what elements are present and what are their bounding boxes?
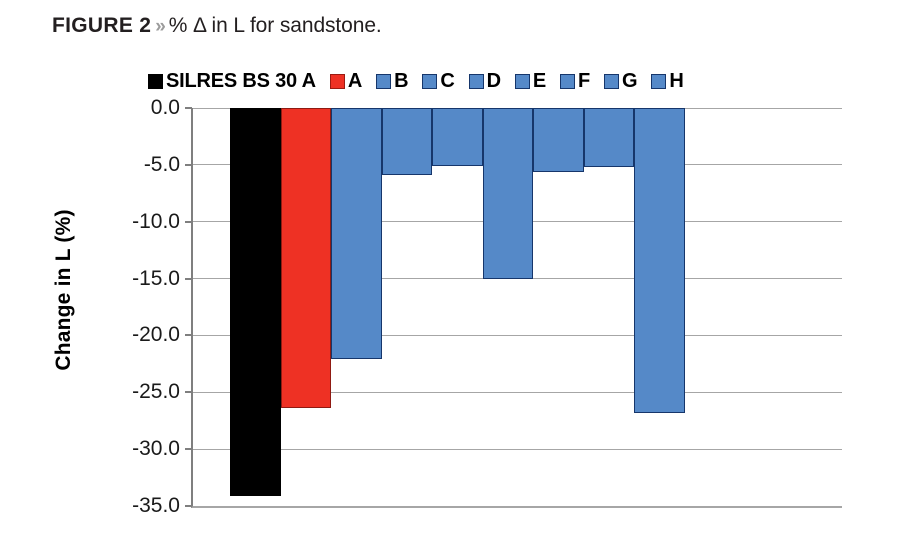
legend-label: C bbox=[440, 70, 454, 93]
bar[interactable] bbox=[331, 108, 382, 359]
legend-item[interactable]: B bbox=[376, 70, 408, 93]
legend-label: E bbox=[533, 70, 546, 93]
bar[interactable] bbox=[382, 108, 433, 175]
legend-item[interactable]: SILRES BS 30 A bbox=[148, 70, 316, 93]
chart-legend: SILRES BS 30 AABCDEFGH bbox=[148, 68, 684, 94]
legend-label: B bbox=[394, 70, 408, 93]
bar[interactable] bbox=[230, 108, 281, 496]
y-tick-mark bbox=[185, 334, 192, 336]
legend-swatch-icon bbox=[560, 74, 575, 89]
legend-item[interactable]: F bbox=[560, 70, 590, 93]
y-tick-label: 0.0 bbox=[151, 96, 180, 120]
figure-separator-icon: » bbox=[155, 16, 165, 37]
legend-item[interactable]: C bbox=[422, 70, 454, 93]
legend-swatch-icon bbox=[330, 74, 345, 89]
y-tick-label: -15.0 bbox=[132, 267, 180, 291]
y-tick-label: -20.0 bbox=[132, 323, 180, 347]
bar[interactable] bbox=[432, 108, 483, 166]
legend-label: G bbox=[622, 70, 637, 93]
legend-label: SILRES BS 30 A bbox=[166, 70, 316, 93]
legend-item[interactable]: G bbox=[604, 70, 637, 93]
bar[interactable] bbox=[634, 108, 685, 413]
bars-group bbox=[230, 108, 842, 506]
legend-item[interactable]: H bbox=[651, 70, 683, 93]
legend-label: H bbox=[669, 70, 683, 93]
legend-item[interactable]: D bbox=[469, 70, 501, 93]
y-axis-title: Change in L (%) bbox=[52, 80, 92, 500]
legend-label: D bbox=[487, 70, 501, 93]
y-tick-mark bbox=[185, 278, 192, 280]
y-tick-label: -5.0 bbox=[144, 153, 180, 177]
y-tick-label: -35.0 bbox=[132, 494, 180, 518]
figure-number: FIGURE 2 bbox=[52, 14, 151, 37]
figure-caption-text: % Δ in L for sandstone. bbox=[169, 14, 382, 37]
legend-item[interactable]: A bbox=[330, 70, 362, 93]
bar[interactable] bbox=[533, 108, 584, 172]
legend-swatch-icon bbox=[651, 74, 666, 89]
legend-item[interactable]: E bbox=[515, 70, 546, 93]
legend-swatch-icon bbox=[148, 74, 163, 89]
legend-label: F bbox=[578, 70, 590, 93]
legend-swatch-icon bbox=[376, 74, 391, 89]
y-tick-mark bbox=[185, 107, 192, 109]
legend-swatch-icon bbox=[515, 74, 530, 89]
legend-swatch-icon bbox=[422, 74, 437, 89]
legend-swatch-icon bbox=[469, 74, 484, 89]
y-tick-mark bbox=[185, 448, 192, 450]
bar[interactable] bbox=[281, 108, 332, 408]
bar[interactable] bbox=[483, 108, 534, 279]
figure-caption: FIGURE 2»% Δ in L for sandstone. bbox=[52, 14, 382, 38]
y-tick-label: -30.0 bbox=[132, 437, 180, 461]
legend-swatch-icon bbox=[604, 74, 619, 89]
bar[interactable] bbox=[584, 108, 635, 167]
legend-label: A bbox=[348, 70, 362, 93]
y-tick-label: -10.0 bbox=[132, 210, 180, 234]
y-tick-mark bbox=[185, 505, 192, 507]
plot-area: 0.0-5.0-10.0-15.0-20.0-25.0-30.0-35.0 bbox=[191, 108, 842, 508]
y-tick-mark bbox=[185, 221, 192, 223]
y-tick-mark bbox=[185, 391, 192, 393]
y-tick-mark bbox=[185, 164, 192, 166]
y-tick-label: -25.0 bbox=[132, 380, 180, 404]
